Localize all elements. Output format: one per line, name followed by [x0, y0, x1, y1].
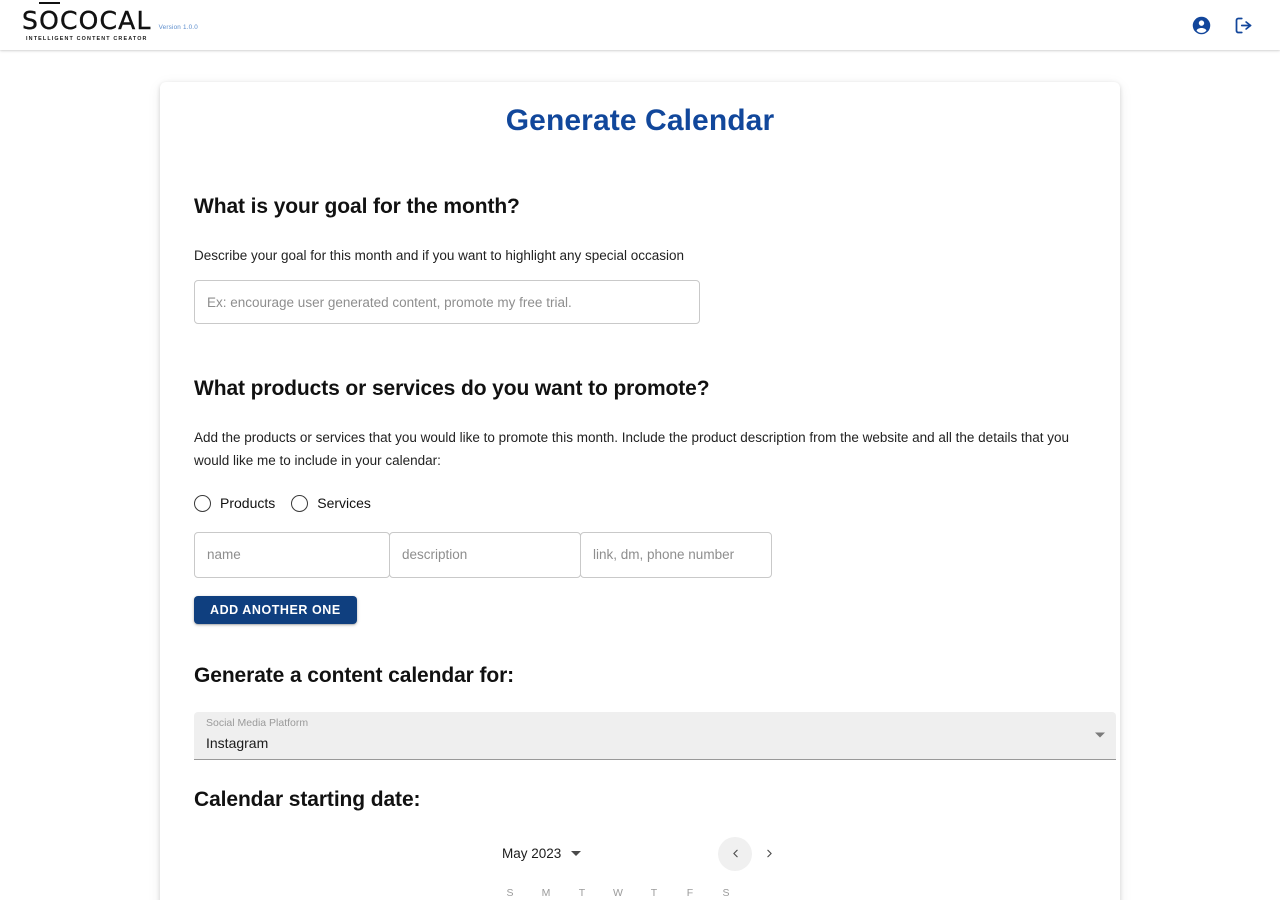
radio-label-services: Services: [317, 495, 371, 511]
weekday-header: T: [566, 880, 598, 900]
radio-option-products[interactable]: Products: [194, 495, 275, 512]
goal-heading: What is your goal for the month?: [194, 195, 1086, 219]
datepicker: May 2023: [492, 834, 788, 900]
social-media-platform-select[interactable]: Social Media Platform Instagram: [194, 712, 1116, 760]
weekday-header: S: [494, 880, 526, 900]
brand-word-macron: O: [39, 6, 60, 35]
top-app-bar: SOCOCAL INTELLIGENT CONTENT CREATOR Vers…: [0, 0, 1280, 50]
radio-option-services[interactable]: Services: [291, 495, 371, 512]
account-circle-icon[interactable]: [1188, 12, 1214, 38]
datepicker-prev-month-button[interactable]: [718, 837, 752, 871]
brand-wordmark: SOCOCAL: [22, 8, 152, 33]
add-another-one-button[interactable]: ADD ANOTHER ONE: [194, 596, 357, 624]
product-contact-input[interactable]: [580, 532, 772, 578]
product-entry-row: [194, 532, 1086, 578]
datepicker-weekday-row: S M T W T F S: [492, 880, 788, 900]
datepicker-month-selector[interactable]: May 2023: [502, 846, 581, 861]
brand-word-part2: COCAL: [60, 6, 152, 35]
brand-logo[interactable]: SOCOCAL INTELLIGENT CONTENT CREATOR Vers…: [22, 8, 198, 42]
datepicker-header: May 2023: [492, 834, 788, 874]
brand-tagline: INTELLIGENT CONTENT CREATOR: [26, 36, 148, 42]
social-media-platform-label: Social Media Platform: [206, 717, 308, 729]
date-heading: Calendar starting date:: [194, 788, 1086, 812]
radio-circle-icon: [291, 495, 308, 512]
appbar-actions: [1188, 12, 1256, 38]
radio-circle-icon: [194, 495, 211, 512]
datepicker-grid: S M T W T F S 1 2 3: [492, 880, 788, 900]
chevron-down-icon: [1095, 733, 1105, 738]
weekday-header: S: [710, 880, 742, 900]
promote-description: Add the products or services that you wo…: [194, 426, 1086, 472]
platform-heading: Generate a content calendar for:: [194, 664, 1086, 688]
promote-type-radio-group: Products Services: [194, 495, 1086, 512]
brand-word-part1: S: [22, 6, 39, 35]
weekday-header: W: [602, 880, 634, 900]
promote-section: What products or services do you want to…: [178, 377, 1102, 623]
version-label: Version 1.0.0: [159, 24, 198, 42]
weekday-header: M: [530, 880, 562, 900]
goal-description: Describe your goal for this month and if…: [194, 244, 1086, 267]
generate-calendar-card: Generate Calendar What is your goal for …: [160, 82, 1120, 900]
product-name-input[interactable]: [194, 532, 390, 578]
datepicker-next-month-button[interactable]: [752, 837, 786, 871]
platform-section: Generate a content calendar for: Social …: [178, 664, 1102, 760]
chevron-down-icon: [571, 851, 581, 856]
brand-mark: SOCOCAL INTELLIGENT CONTENT CREATOR: [22, 8, 152, 42]
logout-icon[interactable]: [1230, 12, 1256, 38]
datepicker-month-label: May 2023: [502, 846, 561, 861]
datepicker-wrap: May 2023: [194, 834, 1086, 900]
weekday-header: F: [674, 880, 706, 900]
promote-heading: What products or services do you want to…: [194, 377, 1086, 401]
goal-input[interactable]: [194, 280, 700, 324]
social-media-platform-value: Instagram: [206, 735, 268, 751]
goal-section: What is your goal for the month? Describ…: [178, 195, 1102, 324]
radio-label-products: Products: [220, 495, 275, 511]
page-body: Generate Calendar What is your goal for …: [0, 50, 1280, 900]
page-title: Generate Calendar: [178, 104, 1102, 138]
date-section: Calendar starting date: May 2023: [178, 788, 1102, 900]
product-description-input[interactable]: [389, 532, 581, 578]
weekday-header: T: [638, 880, 670, 900]
